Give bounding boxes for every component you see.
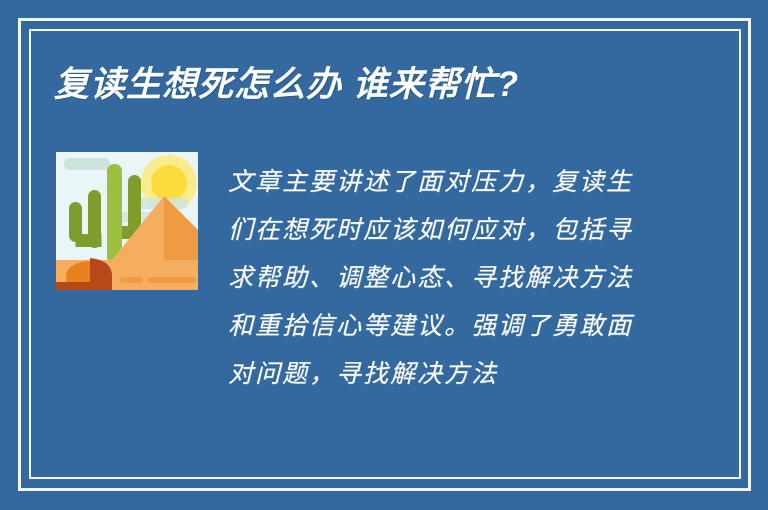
page-title: 复读生想死怎么办 谁来帮忙? (54, 62, 694, 108)
desert-cactus-illustration (52, 150, 206, 296)
article-summary-text: 文章主要讲述了面对压力，复读生们在想死时应该如何应对，包括寻求帮助、调整心态、寻… (228, 158, 652, 398)
article-summary-card: 复读生想死怎么办 谁来帮忙? (0, 0, 768, 510)
